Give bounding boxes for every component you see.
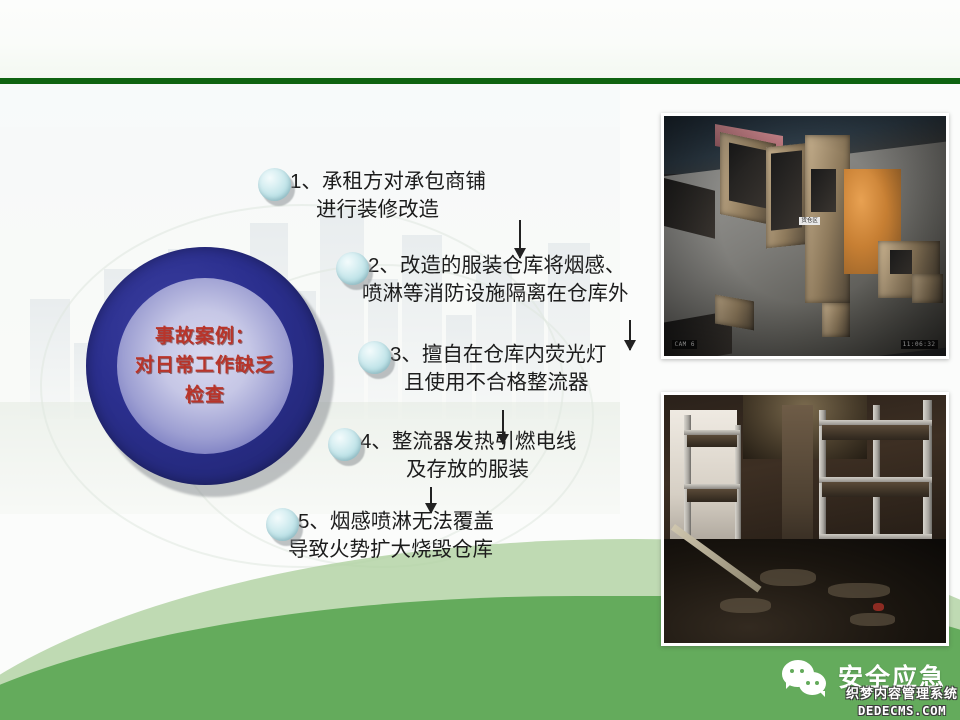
step-line-4-2: 及存放的服装 xyxy=(360,456,576,484)
photo-warehouse-cctv: 货仓区 CAM 6 11:06:32 xyxy=(661,113,949,359)
list-item: 1、承租方对承包商铺 进行装修改造 xyxy=(258,168,486,225)
bullet-sphere-icon xyxy=(328,428,366,466)
bullet-sphere-icon xyxy=(266,508,304,546)
list-item: 2、改造的服装仓库将烟感、 喷淋等消防设施隔离在仓库外 xyxy=(336,252,629,309)
accident-case-circle: 事故案例： 对日常工作缺乏 检查 xyxy=(86,247,334,495)
step-line-2-2: 喷淋等消防设施隔离在仓库外 xyxy=(362,280,629,308)
wechat-logo-icon xyxy=(782,660,834,700)
burnt-warehouse-scene xyxy=(664,395,946,643)
site-watermark: 织梦内容管理系统 DEDECMS.COM xyxy=(844,683,960,718)
circle-outer-ring: 事故案例： 对日常工作缺乏 检查 xyxy=(86,247,324,485)
flow-arrow-down-icon xyxy=(513,220,527,258)
list-item: 3、擅自在仓库内荧光灯 且使用不合格整流器 xyxy=(358,341,606,398)
step-line-5-2: 导致火势扩大烧毁仓库 xyxy=(288,536,494,564)
flow-arrow-down-icon xyxy=(424,487,438,513)
circle-title-line-3: 检查 xyxy=(185,381,225,410)
slide-canvas: 事故案例： 对日常工作缺乏 检查 1、承租方对承包商铺 进行装修改造 2、改造的… xyxy=(0,0,960,720)
step-line-5-1: 烟感喷淋无法覆盖 xyxy=(330,510,494,533)
list-item: 4、整流器发热引燃电线 及存放的服装 xyxy=(328,428,576,485)
flow-arrow-down-icon xyxy=(623,320,637,350)
bullet-sphere-icon xyxy=(336,252,374,290)
step-line-4-1: 整流器发热引燃电线 xyxy=(392,430,577,453)
step-line-3-1: 擅自在仓库内荧光灯 xyxy=(422,343,607,366)
bullet-sphere-icon xyxy=(258,168,296,206)
step-line-1-2: 进行装修改造 xyxy=(290,196,486,224)
circle-title-line-1: 事故案例： xyxy=(155,322,255,351)
step-text-2: 2、改造的服装仓库将烟感、 喷淋等消防设施隔离在仓库外 xyxy=(336,252,629,309)
watermark-domain: DEDECMS.COM xyxy=(844,703,960,718)
list-item: 5、烟感喷淋无法覆盖 导致火势扩大烧毁仓库 xyxy=(266,508,494,565)
step-line-1-1: 承租方对承包商铺 xyxy=(322,170,486,193)
cctv-scene: 货仓区 CAM 6 11:06:32 xyxy=(664,116,946,356)
circle-inner-disc: 事故案例： 对日常工作缺乏 检查 xyxy=(117,278,293,454)
wechat-badge: 安全应急 织梦内容管理系统 DEDECMS.COM xyxy=(782,656,960,712)
slide-header-strip xyxy=(0,0,960,78)
step-line-3-2: 且使用不合格整流器 xyxy=(390,369,606,397)
watermark-chinese: 织梦内容管理系统 xyxy=(844,683,960,702)
circle-title-line-2: 对日常工作缺乏 xyxy=(135,351,275,380)
photo-burnt-warehouse xyxy=(661,392,949,646)
flow-arrow-down-icon xyxy=(496,410,510,444)
bullet-sphere-icon xyxy=(358,341,396,379)
